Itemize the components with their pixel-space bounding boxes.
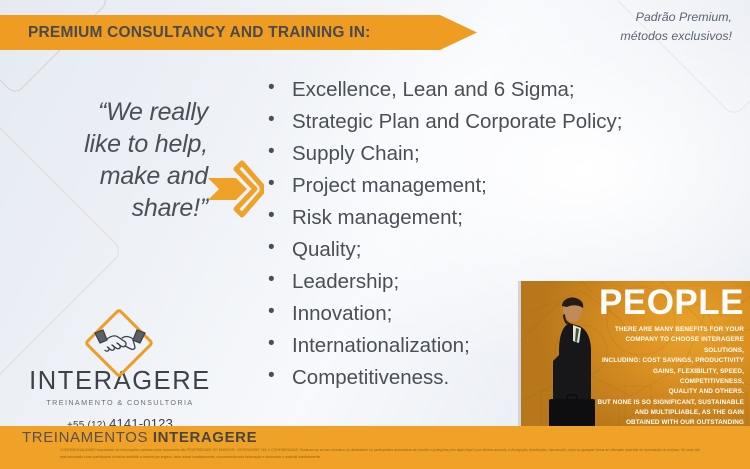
quote-line-2: like to help, <box>18 128 208 160</box>
logo-subtitle: TREINAMENTO & CONSULTORIA <box>20 398 220 407</box>
handshake-icon <box>93 324 147 358</box>
quote-line-1: “We really <box>18 96 208 128</box>
list-item: Risk management; <box>266 202 596 234</box>
poster-body-text: THERE ARE MANY BENEFITS FOR YOUR COMPANY… <box>592 325 744 438</box>
header-banner: PREMIUM CONSULTANCY AND TRAINING IN: <box>0 15 477 50</box>
list-item: Project management; <box>266 170 596 202</box>
footer-bar: TREINAMENTOS INTERAGERE CONFIDENCIALIDAD… <box>0 426 750 469</box>
list-item: Excellence, Lean and 6 Sigma; <box>266 74 596 106</box>
businessman-photo <box>529 295 599 438</box>
poster-headline: PEOPLE <box>599 285 744 320</box>
footer-title-light: TREINAMENTOS <box>22 429 153 446</box>
tagline-line-2: métodos exclusivos! <box>620 27 732 46</box>
poster-body-line: COMPANY TO CHOOSE INTERAGERE SOLUTIONS, <box>592 335 744 356</box>
header-tagline: Padrão Premium, métodos exclusivos! <box>620 8 732 45</box>
confidentiality-notice: CONFIDENCIALIDADE! Importante: As inform… <box>60 447 700 460</box>
list-item: Supply Chain; <box>266 138 596 170</box>
list-item: Quality; <box>266 234 596 266</box>
poster-body-line: BUT NONE IS SO SIGNIFICANT, SUSTAINABLE <box>592 398 744 408</box>
people-poster: PEOPLE THERE ARE MANY BENEFITS FOR YOUR … <box>518 281 750 438</box>
quote-line-3: make and <box>18 160 208 192</box>
footer-title-bold: INTERAGERE <box>153 429 257 446</box>
handshake-in-diamond-icon <box>20 316 220 368</box>
list-item: Strategic Plan and Corporate Policy; <box>266 106 596 138</box>
poster-body-line: AND MULTIPLIABLE, AS THE GAIN <box>592 408 744 418</box>
page-title: PREMIUM CONSULTANCY AND TRAINING IN: <box>28 24 370 42</box>
pull-quote: “We really like to help, make and share!… <box>18 96 208 224</box>
footer-title: TREINAMENTOS INTERAGERE <box>22 429 257 446</box>
poster-body-line: THERE ARE MANY BENEFITS FOR YOUR <box>592 325 744 335</box>
poster-body-line: INCLUDING: COST SAVINGS, PRODUCTIVITY <box>592 356 744 366</box>
company-logo: INTERAGERE TREINAMENTO & CONSULTORIA +55… <box>20 316 220 444</box>
tagline-line-1: Padrão Premium, <box>620 8 732 27</box>
double-chevron-right-icon <box>206 160 264 218</box>
poster-body-line: QUALITY AND OTHERS. <box>592 387 744 397</box>
poster-body-line: GAINS, FLEXIBILITY, SPEED, COMPETITIVENE… <box>592 367 744 388</box>
slide-canvas: PREMIUM CONSULTANCY AND TRAINING IN: Pad… <box>0 0 750 469</box>
quote-line-4: share!” <box>18 192 208 224</box>
